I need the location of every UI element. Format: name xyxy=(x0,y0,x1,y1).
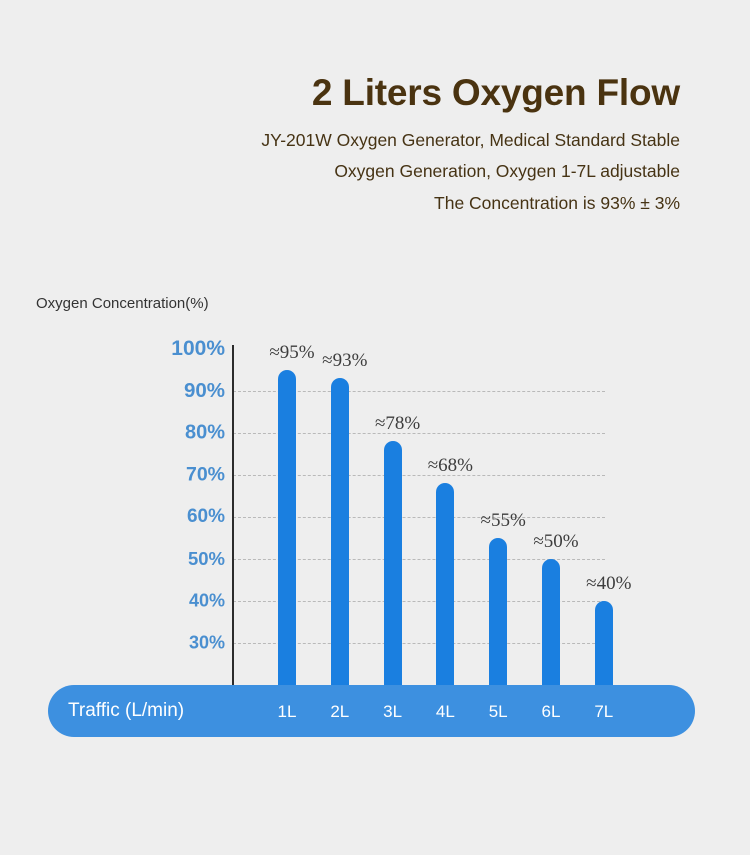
x-axis-title: Traffic (L/min) xyxy=(68,700,184,722)
x-axis-tick-label: 6L xyxy=(542,702,561,722)
bar[interactable] xyxy=(278,370,296,700)
bar[interactable] xyxy=(436,483,454,700)
bar-value-label: ≈40% xyxy=(586,573,631,595)
bar-value-label: ≈95% xyxy=(269,342,314,364)
x-axis-tick-label: 1L xyxy=(278,702,297,722)
bar[interactable] xyxy=(331,378,349,700)
y-axis-tick-label: 70% xyxy=(0,464,225,487)
bar[interactable] xyxy=(542,559,560,700)
bar-value-label: ≈50% xyxy=(533,531,578,553)
bar[interactable] xyxy=(384,441,402,700)
y-axis-tick-label: 90% xyxy=(0,379,225,403)
y-axis-tick-label: 80% xyxy=(0,422,225,445)
bar-value-label: ≈68% xyxy=(428,455,473,477)
bar[interactable] xyxy=(489,538,507,700)
x-axis-tick-label: 3L xyxy=(383,702,402,722)
y-axis-title: Oxygen Concentration(%) xyxy=(36,295,209,312)
y-axis-tick-label: 50% xyxy=(0,548,225,570)
y-axis-tick-label: 60% xyxy=(0,506,225,528)
x-axis-tick-label: 4L xyxy=(436,702,455,722)
bar-value-label: ≈55% xyxy=(481,510,526,532)
y-axis-tick-label: 30% xyxy=(0,633,225,654)
y-axis-line xyxy=(232,345,234,685)
bar-chart: Oxygen Concentration(%) 100%90%80%70%60%… xyxy=(0,0,750,855)
x-axis-tick-label: 2L xyxy=(330,702,349,722)
y-axis-tick-label: 40% xyxy=(0,591,225,612)
x-axis-tick-label: 7L xyxy=(594,702,613,722)
x-axis-tick-label: 5L xyxy=(489,702,508,722)
bar-value-label: ≈78% xyxy=(375,413,420,435)
bar-value-label: ≈93% xyxy=(322,350,367,372)
y-axis-tick-label: 100% xyxy=(0,337,225,361)
